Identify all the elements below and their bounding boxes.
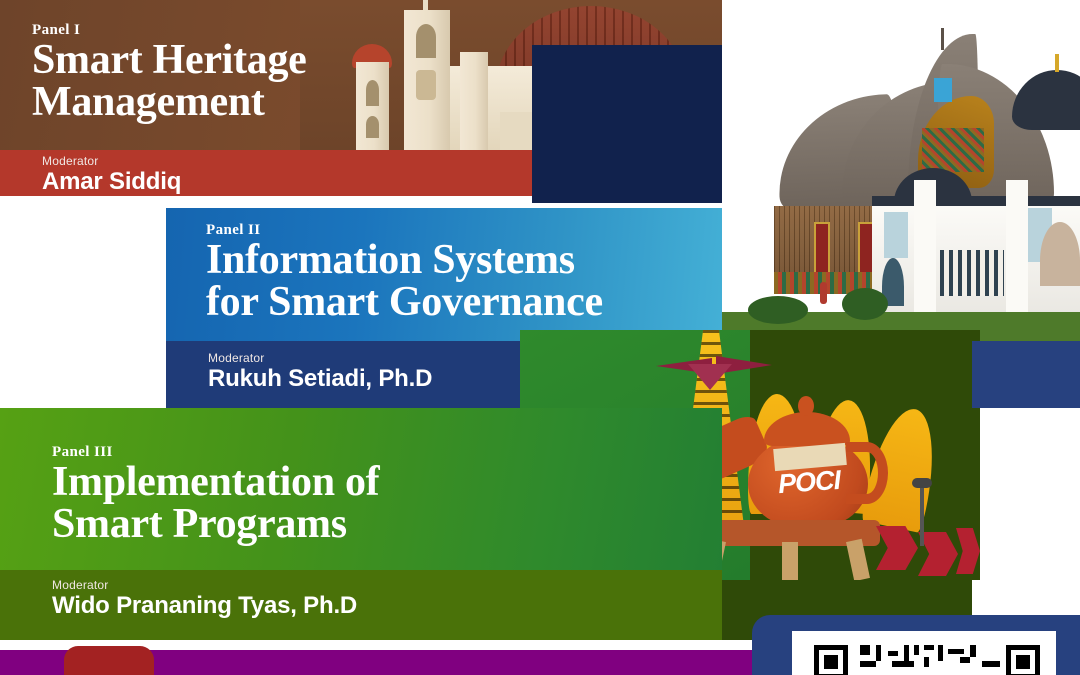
teapot-knob-icon xyxy=(798,396,814,416)
rumah-gadang-door-1 xyxy=(814,222,830,278)
panel-1-moderator: Moderator Amar Siddiq xyxy=(42,154,181,196)
bottom-red-tab xyxy=(64,646,154,675)
masjid-column-left xyxy=(914,180,936,326)
bottom-caption xyxy=(172,668,732,675)
poster-canvas: Panel I Smart Heritage Management Modera… xyxy=(0,0,1080,675)
tree-icon-1 xyxy=(842,288,888,320)
panel-3-title: Implementation of Smart Programs xyxy=(52,461,572,545)
panel-1-moderator-name: Amar Siddiq xyxy=(42,168,181,196)
lamp-post-icon xyxy=(920,486,924,546)
gonjong-flag-icon xyxy=(934,78,952,102)
panel-3-text: Panel III Implementation of Smart Progra… xyxy=(52,444,572,545)
masjid-column-right xyxy=(1006,180,1028,326)
gonjong-finial-icon xyxy=(941,28,944,50)
panel-1-title: Smart Heritage Management xyxy=(32,39,502,123)
panel-2-title: Information Systems for Smart Governance xyxy=(206,239,706,323)
navy-accent-block-right xyxy=(972,341,1080,408)
gonjong-carved-gable xyxy=(922,128,984,172)
navy-accent-block-top xyxy=(532,45,722,203)
panel-2-text: Panel II Information Systems for Smart G… xyxy=(206,222,706,323)
panel-2-moderator-label: Moderator xyxy=(208,351,432,365)
masjid-finial-icon xyxy=(1055,54,1059,72)
panel-2-moderator-name: Rukuh Setiadi, Ph.D xyxy=(208,365,432,393)
photo-person-icon xyxy=(820,282,827,304)
panel-3-moderator-name: Wido Prananing Tyas, Ph.D xyxy=(52,592,357,620)
masjid-arcade xyxy=(940,250,1004,296)
panel-3-moderator-label: Moderator xyxy=(52,578,357,592)
panel-1-moderator-label: Moderator xyxy=(42,154,181,168)
teapot-sign-text: POCI xyxy=(777,463,869,500)
tree-icon-2 xyxy=(748,296,808,324)
panel-1-text: Panel I Smart Heritage Management xyxy=(32,22,502,123)
masjid-tile-panel-1 xyxy=(884,212,908,258)
masjid-cornice xyxy=(872,196,1080,206)
panel-2-moderator: Moderator Rukuh Setiadi, Ph.D xyxy=(208,351,432,393)
qr-card[interactable] xyxy=(752,615,1080,675)
qr-code-modules xyxy=(814,645,1040,675)
qr-code[interactable] xyxy=(792,631,1056,675)
panel-3-moderator: Moderator Wido Prananing Tyas, Ph.D xyxy=(52,578,357,620)
lamp-head-icon xyxy=(912,478,932,488)
monument-leg-mid xyxy=(782,542,798,580)
rumah-gadang-masjid-photo xyxy=(722,0,1080,341)
